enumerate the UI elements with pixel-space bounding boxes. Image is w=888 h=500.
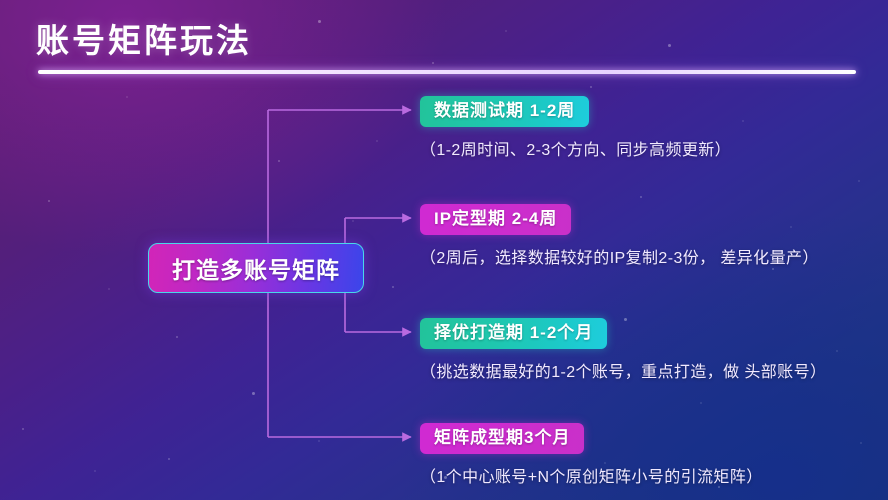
stage-item-1[interactable]: 数据测试期 1-2周 （1-2周时间、2-3个方向、同步高频更新） xyxy=(420,96,731,160)
stage-1-chip[interactable]: 数据测试期 1-2周 xyxy=(420,96,589,127)
center-node-account-matrix[interactable]: 打造多账号矩阵 xyxy=(148,243,364,293)
slide-canvas: 账号矩阵玩法 打造多账号矩阵 数据测试期 1-2周 （1-2周时间、2-3个方向… xyxy=(0,0,888,500)
stage-2-chip[interactable]: IP定型期 2-4周 xyxy=(420,204,571,235)
stage-item-3[interactable]: 择优打造期 1-2个月 （挑选数据最好的1-2个账号，重点打造，做 头部账号） xyxy=(420,318,826,382)
stage-item-4[interactable]: 矩阵成型期3个月 （1个中心账号+N个原创矩阵小号的引流矩阵） xyxy=(420,423,763,487)
slide-title-block: 账号矩阵玩法 xyxy=(36,18,856,64)
stage-item-2[interactable]: IP定型期 2-4周 （2周后，选择数据较好的IP复制2-3份， 差异化量产） xyxy=(420,204,819,268)
title-underline-divider xyxy=(38,70,856,74)
stage-1-description: （1-2周时间、2-3个方向、同步高频更新） xyxy=(420,136,731,160)
page-title: 账号矩阵玩法 xyxy=(36,18,856,64)
stage-2-description: （2周后，选择数据较好的IP复制2-3份， 差异化量产） xyxy=(420,244,819,268)
stage-4-description: （1个中心账号+N个原创矩阵小号的引流矩阵） xyxy=(420,463,763,487)
stage-3-chip[interactable]: 择优打造期 1-2个月 xyxy=(420,318,607,349)
center-node-label: 打造多账号矩阵 xyxy=(172,251,340,285)
stage-3-description: （挑选数据最好的1-2个账号，重点打造，做 头部账号） xyxy=(420,358,826,382)
stage-4-chip[interactable]: 矩阵成型期3个月 xyxy=(420,423,584,454)
